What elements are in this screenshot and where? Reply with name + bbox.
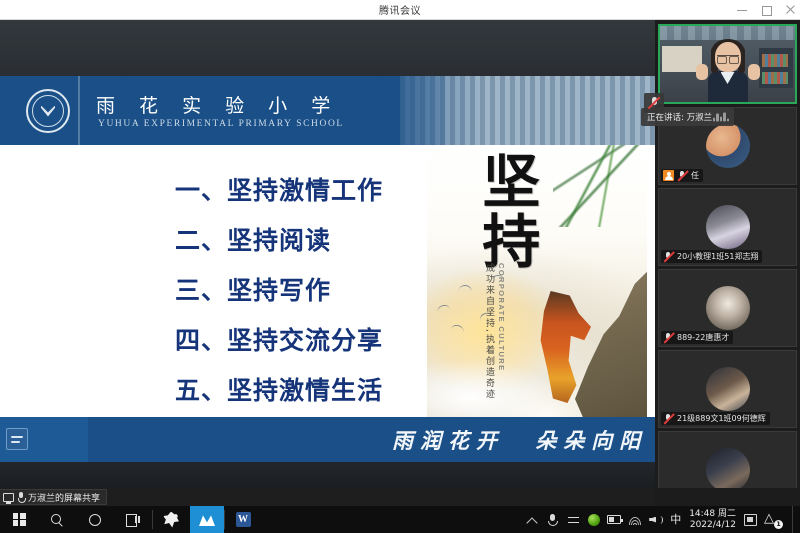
- tencent-meeting-icon[interactable]: [190, 506, 224, 533]
- screen-share-chip[interactable]: 万淑兰的屏幕共享: [0, 489, 107, 505]
- participant-label: 任: [661, 169, 703, 182]
- participant-tile[interactable]: 889-22唐惠才: [658, 269, 797, 347]
- muted-microphone-icon: [644, 93, 664, 113]
- maximize-icon[interactable]: [760, 4, 772, 16]
- poster-bamboo: [553, 145, 645, 227]
- stage-top-letterbox: [0, 20, 655, 76]
- screen-share-status-text: 万淑兰的屏幕共享: [28, 491, 100, 504]
- participant-video-feed: [660, 26, 795, 102]
- avatar: [706, 205, 750, 249]
- green-shield-icon[interactable]: [588, 514, 600, 526]
- video-background-bookshelf: [759, 48, 793, 88]
- clock-time: 14:48 周二: [689, 509, 736, 519]
- fan-app-icon[interactable]: [152, 506, 190, 533]
- muted-microphone-icon: [663, 251, 674, 262]
- host-badge-icon: [663, 170, 674, 181]
- avatar: [706, 367, 750, 411]
- battery-icon[interactable]: [607, 515, 621, 524]
- muted-microphone-icon: [663, 413, 674, 424]
- poster-subtitle-cn: 成功来自坚持,执着创造奇迹: [483, 263, 496, 400]
- muted-microphone-icon: [663, 332, 674, 343]
- presentation-slide: 雨 花 实 验 小 学 YUHUA EXPERIMENTAL PRIMARY S…: [0, 76, 655, 462]
- poster-title: 坚持: [479, 151, 532, 271]
- participant-name: 889-22唐惠才: [677, 332, 729, 343]
- stage-bottom-letterbox: [0, 462, 655, 488]
- windows-start-icon[interactable]: [0, 506, 38, 533]
- taskbar-left-group: [0, 506, 262, 533]
- school-name-cn: 雨 花 实 验 小 学: [96, 91, 339, 118]
- participant-sidebar[interactable]: 正在讲话: 万淑兰 任 20小教理1班51郑志翔: [655, 20, 800, 488]
- task-view-icon[interactable]: [114, 506, 152, 533]
- tencent-meeting-window: 腾讯会议 雨 花 实 验 小 学 YUHUA EXPERIMENTAL PRIM…: [0, 0, 800, 533]
- system-tray: 中 14:48 周二 2022/4/12 △ 1: [525, 506, 800, 533]
- clock-date: 2022/4/12: [690, 520, 736, 530]
- participant-label: 20小教理1班51郑志翔: [661, 250, 762, 263]
- school-name-en: YUHUA EXPERIMENTAL PRIMARY SCHOOL: [98, 119, 344, 129]
- word-icon[interactable]: [224, 506, 262, 533]
- window-title: 腾讯会议: [0, 2, 800, 17]
- sidebar-bottom-filler: [655, 488, 800, 506]
- slide-footer-motto-right: 朵朵向阳: [535, 428, 647, 453]
- school-crest-icon: [26, 89, 70, 133]
- avatar: [706, 286, 750, 330]
- slide-footer-motto: 雨润花开 朵朵向阳: [392, 425, 647, 455]
- cortana-icon[interactable]: [76, 506, 114, 533]
- participant-label: 21级889文1班09何德辉: [661, 412, 770, 425]
- window-controls: [736, 0, 796, 20]
- slide-header: 雨 花 实 验 小 学 YUHUA EXPERIMENTAL PRIMARY S…: [0, 76, 655, 145]
- microphone-icon: [17, 492, 25, 503]
- video-person: [708, 42, 748, 104]
- taskbar-clock[interactable]: 14:48 周二 2022/4/12: [689, 509, 736, 530]
- show-desktop-button[interactable]: [792, 506, 798, 533]
- windows-taskbar[interactable]: 中 14:48 周二 2022/4/12 △ 1: [0, 506, 800, 533]
- wifi-icon[interactable]: [628, 514, 642, 525]
- screen-share-status-bar: 万淑兰的屏幕共享: [0, 488, 655, 506]
- sliders-icon[interactable]: [567, 513, 581, 527]
- minimize-icon[interactable]: [736, 4, 748, 16]
- participant-name: 任: [691, 170, 699, 181]
- participant-tile[interactable]: 21级889文1班09何德辉: [658, 350, 797, 428]
- slide-footer-motto-left: 雨润花开: [392, 428, 504, 453]
- video-background-wall: [660, 26, 795, 40]
- slide-bullet-1: 一、坚持激情工作: [175, 171, 383, 207]
- close-icon[interactable]: [784, 4, 796, 16]
- onedrive-icon[interactable]: △ 1: [764, 512, 782, 528]
- muted-microphone-icon: [677, 170, 688, 181]
- list-menu-icon[interactable]: [6, 428, 28, 450]
- chevron-up-icon[interactable]: [525, 513, 539, 527]
- slide-bullet-3: 三、坚持写作: [175, 271, 383, 307]
- participant-tile[interactable]: 20小教理1班51郑志翔: [658, 188, 797, 266]
- audio-level-bars: [713, 113, 730, 122]
- slide-bullet-5: 五、坚持激情生活: [175, 371, 383, 407]
- shared-screen-stage[interactable]: 雨 花 实 验 小 学 YUHUA EXPERIMENTAL PRIMARY S…: [0, 20, 655, 488]
- participant-name: 21级889文1班09何德辉: [677, 413, 766, 424]
- onedrive-badge: 1: [774, 520, 783, 529]
- speaking-tooltip-text: 正在讲话: 万淑兰: [647, 113, 712, 123]
- microphone-icon[interactable]: [546, 513, 560, 527]
- participant-tile-speaker[interactable]: [658, 24, 797, 104]
- participant-name: 20小教理1班51郑志翔: [677, 251, 758, 262]
- poster-image: 坚持 成功来自坚持,执着创造奇迹 CORPORATE CULTURE: [427, 145, 647, 431]
- poster-subtitle-en: CORPORATE CULTURE: [497, 263, 506, 372]
- avatar: [706, 448, 750, 492]
- slide-footer: 雨润花开 朵朵向阳: [0, 417, 655, 462]
- speaker-icon[interactable]: [649, 514, 663, 526]
- slide-bullet-2: 二、坚持阅读: [175, 221, 383, 257]
- search-icon[interactable]: [38, 506, 76, 533]
- action-center-icon[interactable]: [744, 514, 757, 526]
- participant-label: 889-22唐惠才: [661, 331, 733, 344]
- screen-share-icon: [3, 493, 14, 502]
- window-title-bar: 腾讯会议: [0, 0, 800, 20]
- header-accent-line: [78, 76, 80, 145]
- ime-indicator[interactable]: 中: [670, 514, 681, 525]
- slide-bullet-4: 四、坚持交流分享: [175, 321, 383, 357]
- slide-bullet-list: 一、坚持激情工作 二、坚持阅读 三、坚持写作 四、坚持交流分享 五、坚持激情生活: [175, 171, 383, 407]
- avatar: [706, 124, 750, 168]
- slide-body: 一、坚持激情工作 二、坚持阅读 三、坚持写作 四、坚持交流分享 五、坚持激情生活: [0, 145, 655, 417]
